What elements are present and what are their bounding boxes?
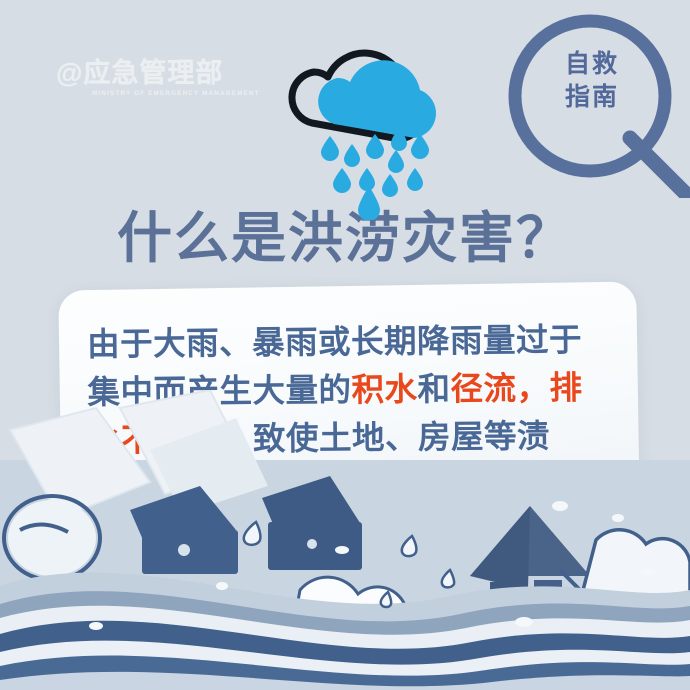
logo-text-cn: @应急管理部: [56, 58, 226, 88]
badge-line-1: 自救: [544, 48, 640, 81]
badge-text: 自救 指南: [544, 48, 640, 114]
water-drop-icon: [358, 186, 380, 220]
page-title-text: 什么是洪涝灾害？: [117, 207, 573, 269]
page-title: 什么是洪涝灾害？: [0, 193, 690, 273]
logo-name-cn: 应急管理部: [83, 58, 223, 88]
logo-name-en: MINISTRY OF EMERGENCY MANAGEMENT: [92, 90, 226, 97]
flood-scene-illustration: [0, 390, 690, 690]
infographic-poster: @应急管理部 MINISTRY OF EMERGENCY MANAGEMENT: [0, 0, 690, 690]
rain-cloud-icon: [272, 28, 462, 204]
badge-line-2: 指南: [544, 81, 640, 114]
ministry-logo: @应急管理部 MINISTRY OF EMERGENCY MANAGEMENT: [56, 58, 226, 110]
at-icon: @: [56, 58, 83, 88]
self-rescue-guide-badge: 自救 指南: [498, 8, 690, 198]
